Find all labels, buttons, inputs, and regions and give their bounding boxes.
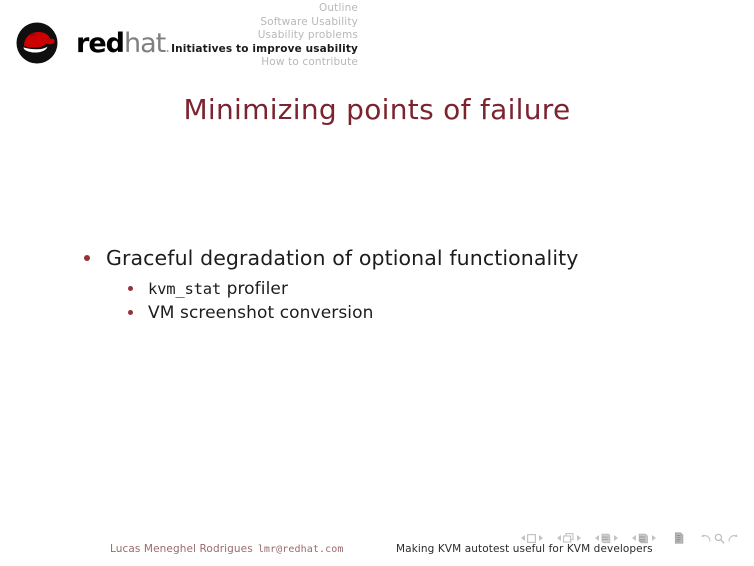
bullet-marker-icon — [84, 255, 90, 261]
nav-item-outline[interactable]: Outline — [58, 2, 358, 16]
bullet-text: Graceful degradation of optional functio… — [106, 246, 579, 270]
author-name: Lucas Meneghel Rodrigues — [110, 543, 253, 555]
slide-prev-icon[interactable] — [521, 535, 525, 541]
document-nav-group — [674, 532, 684, 544]
bullet-marker-icon — [128, 310, 133, 315]
document-icon[interactable] — [674, 532, 684, 544]
subsection-icon[interactable] — [601, 533, 611, 544]
back-icon[interactable] — [701, 533, 712, 544]
subsection-next-icon[interactable] — [614, 535, 618, 541]
beamer-navigation-bar — [518, 530, 748, 546]
author-email[interactable]: lmr@redhat.com — [258, 544, 344, 555]
search-icon[interactable] — [714, 533, 725, 544]
nav-item-how-to-contribute[interactable]: How to contribute — [58, 56, 358, 70]
list-item: Graceful degradation of optional functio… — [0, 244, 754, 272]
sublist: kvm_stat profiler VM screenshot conversi… — [0, 277, 754, 325]
slide-footer: Lucas Meneghel Rodrigueslmr@redhat.com M… — [0, 538, 754, 566]
nav-item-initiatives-to-improve-usability[interactable]: Initiatives to improve usability — [58, 43, 358, 57]
nav-item-usability-problems[interactable]: Usability problems — [58, 29, 358, 43]
subsection-prev-icon[interactable] — [595, 535, 599, 541]
frame-next-icon[interactable] — [577, 535, 581, 541]
slide-content: Graceful degradation of optional functio… — [0, 244, 754, 325]
header-outline-nav: Outline Software Usability Usability pro… — [58, 2, 358, 70]
slide-icon[interactable] — [527, 534, 536, 543]
section-icon[interactable] — [638, 533, 649, 544]
subbullet-text: VM screenshot conversion — [148, 303, 374, 323]
history-nav-group — [700, 533, 739, 544]
subbullet-code: kvm_stat — [148, 280, 221, 298]
section-prev-icon[interactable] — [632, 535, 636, 541]
frame-icon[interactable] — [563, 533, 574, 543]
forward-icon[interactable] — [727, 533, 738, 544]
list-item: kvm_stat profiler — [0, 277, 754, 301]
subbullet-text: profiler — [221, 279, 288, 299]
footer-author: Lucas Meneghel Rodrigueslmr@redhat.com — [110, 543, 344, 555]
section-next-icon[interactable] — [652, 535, 656, 541]
subsection-nav-group — [592, 533, 620, 544]
slide-nav-group — [518, 534, 545, 543]
bullet-marker-icon — [128, 286, 133, 291]
frame-prev-icon[interactable] — [557, 535, 561, 541]
list-item: VM screenshot conversion — [0, 301, 754, 325]
nav-item-software-usability[interactable]: Software Usability — [58, 16, 358, 30]
slide-title: Minimizing points of failure — [0, 93, 754, 126]
section-nav-group — [629, 533, 658, 544]
slide-header: redhat. Outline Software Usability Usabi… — [0, 0, 754, 78]
frame-nav-group — [554, 533, 583, 543]
slide-next-icon[interactable] — [539, 535, 543, 541]
